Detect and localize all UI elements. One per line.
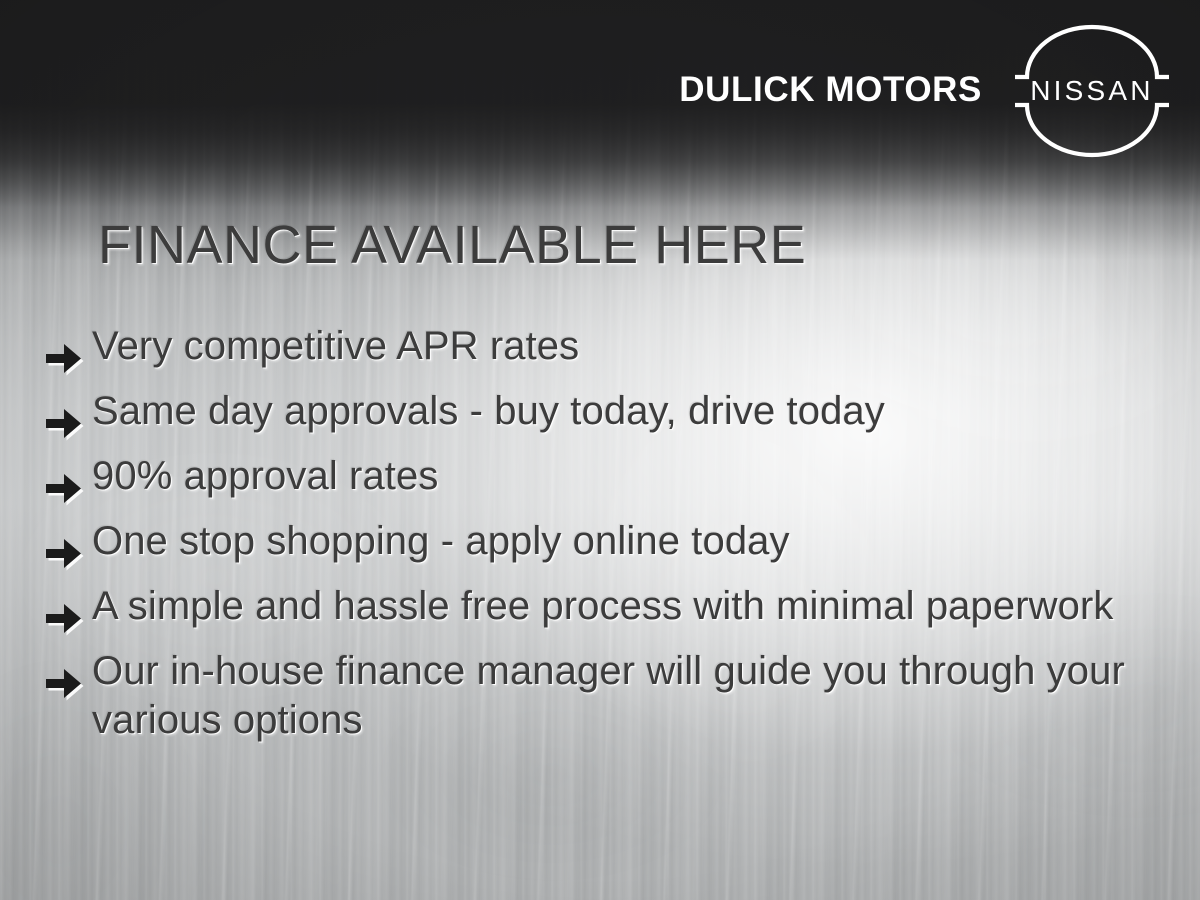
list-item: Very competitive APR rates (42, 322, 1160, 371)
benefits-list: Very competitive APR rates Same day appr… (42, 322, 1160, 745)
right-arrow-icon (42, 399, 86, 448)
dealership-name: DULICK MOTORS (679, 72, 982, 107)
nissan-logo: NISSAN (1012, 24, 1172, 158)
list-item-label: 90% approval rates (92, 452, 1160, 501)
list-item-label: Our in-house finance manager will guide … (92, 647, 1160, 745)
right-arrow-icon (42, 464, 86, 513)
nissan-wordmark: NISSAN (1030, 75, 1153, 106)
right-arrow-icon (42, 334, 86, 383)
list-item-label: One stop shopping - apply online today (92, 517, 1160, 566)
presentation-slide: DULICK MOTORS NISSAN FINANCE AVAILABLE H… (0, 0, 1200, 900)
right-arrow-icon (42, 659, 86, 708)
list-item-label: A simple and hassle free process with mi… (92, 582, 1160, 631)
list-item: One stop shopping - apply online today (42, 517, 1160, 566)
list-item: Our in-house finance manager will guide … (42, 647, 1160, 745)
list-item: A simple and hassle free process with mi… (42, 582, 1160, 631)
right-arrow-icon (42, 594, 86, 643)
page-title: FINANCE AVAILABLE HERE (98, 214, 806, 276)
slide-header: DULICK MOTORS NISSAN (0, 0, 1200, 176)
list-item: 90% approval rates (42, 452, 1160, 501)
right-arrow-icon (42, 529, 86, 578)
list-item: Same day approvals - buy today, drive to… (42, 387, 1160, 436)
list-item-label: Very competitive APR rates (92, 322, 1160, 371)
list-item-label: Same day approvals - buy today, drive to… (92, 387, 1160, 436)
